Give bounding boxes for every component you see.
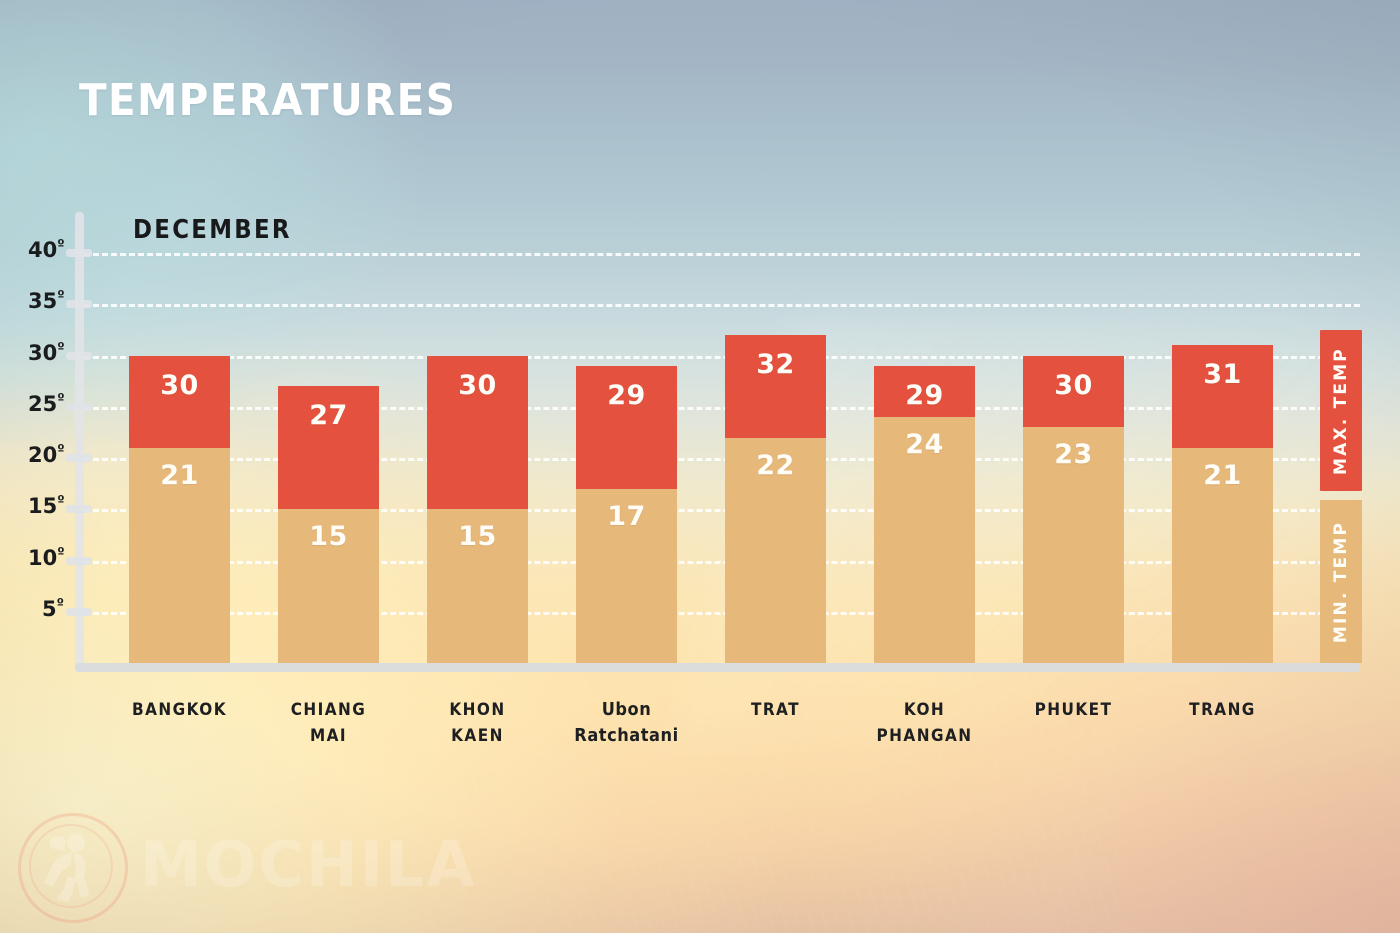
bar-value-min: 23 [1023, 439, 1124, 470]
bar-value-min: 22 [725, 450, 826, 481]
bar-value-min: 17 [576, 501, 677, 532]
bar-value-max: 30 [1023, 370, 1124, 401]
bar-value-min: 15 [427, 521, 528, 552]
y-axis-label-35: 35º [28, 289, 65, 313]
category-label: KHON KAEN [396, 697, 559, 749]
category-label: KOH PHANGAN [843, 697, 1006, 749]
bar-value-max: 30 [427, 370, 528, 401]
bar-group[interactable]: 3121 [1172, 345, 1273, 663]
bar-value-min: 15 [278, 521, 379, 552]
bar-segment-min-temp[interactable]: 22 [725, 438, 826, 664]
bar-segment-max-temp[interactable]: 31 [1172, 345, 1273, 448]
y-axis-label-30: 30º [28, 341, 65, 365]
category-label: TRANG [1141, 697, 1304, 723]
gridline-5 [84, 612, 1360, 615]
category-label: PHUKET [992, 697, 1155, 723]
gridline-15 [84, 509, 1360, 512]
bar-segment-min-temp[interactable]: 24 [874, 417, 975, 663]
bar-value-min: 24 [874, 429, 975, 460]
bar-segment-min-temp[interactable]: 21 [129, 448, 230, 663]
legend-label: MAX. TEMP [1331, 347, 1351, 475]
bar-chart-plot: 5º10º15º20º25º30º35º40º 3021271530152917… [0, 0, 1400, 933]
gridline-40 [84, 253, 1360, 256]
legend-label: MIN. TEMP [1331, 520, 1351, 642]
y-axis-label-5: 5º [42, 597, 64, 621]
y-tick-mark-30 [66, 352, 92, 360]
bar-value-max: 30 [129, 370, 230, 401]
category-label: CHIANG MAI [247, 697, 410, 749]
gridline-25 [84, 407, 1360, 410]
bar-value-max: 29 [576, 380, 677, 411]
y-tick-mark-25 [66, 403, 92, 411]
bar-group[interactable]: 2924 [874, 366, 975, 663]
bar-value-min: 21 [1172, 460, 1273, 491]
bar-segment-min-temp[interactable]: 17 [576, 489, 677, 663]
bar-segment-max-temp[interactable]: 29 [576, 366, 677, 489]
gridline-10 [84, 561, 1360, 564]
infographic-canvas: TEMPERATURES DECEMBER 5º10º15º20º25º30º3… [0, 0, 1400, 933]
bar-group[interactable]: 3021 [129, 356, 230, 664]
y-tick-mark-40 [66, 249, 92, 257]
bar-segment-max-temp[interactable]: 32 [725, 335, 826, 438]
bar-group[interactable]: 3023 [1023, 356, 1124, 664]
y-tick-mark-15 [66, 505, 92, 513]
category-label: Ubon Ratchatani [545, 697, 708, 749]
bar-segment-min-temp[interactable]: 15 [278, 509, 379, 663]
x-axis-line [75, 663, 1360, 672]
bar-segment-min-temp[interactable]: 15 [427, 509, 528, 663]
y-axis-label-20: 20º [28, 443, 65, 467]
bar-group[interactable]: 3222 [725, 335, 826, 663]
y-tick-mark-10 [66, 557, 92, 565]
category-label: TRAT [694, 697, 857, 723]
category-label: BANGKOK [98, 697, 261, 723]
y-axis-label-15: 15º [28, 494, 65, 518]
y-tick-mark-35 [66, 300, 92, 308]
y-axis-line [75, 212, 84, 672]
bar-group[interactable]: 2715 [278, 386, 379, 663]
bar-value-min: 21 [129, 460, 230, 491]
y-axis-label-25: 25º [28, 392, 65, 416]
bar-segment-min-temp[interactable]: 21 [1172, 448, 1273, 663]
y-axis-label-40: 40º [28, 238, 65, 262]
bar-value-max: 27 [278, 400, 379, 431]
gridline-30 [84, 356, 1360, 359]
y-tick-mark-5 [66, 608, 92, 616]
gridline-20 [84, 458, 1360, 461]
bar-group[interactable]: 3015 [427, 356, 528, 664]
bar-value-max: 31 [1172, 359, 1273, 390]
bar-value-max: 32 [725, 349, 826, 380]
bar-segment-max-temp[interactable]: 30 [427, 356, 528, 510]
bar-group[interactable]: 2917 [576, 366, 677, 663]
legend-item-max-temp[interactable]: MAX. TEMP [1320, 330, 1362, 491]
bar-segment-max-temp[interactable]: 29 [874, 366, 975, 417]
bar-segment-max-temp[interactable]: 27 [278, 386, 379, 509]
y-axis-label-10: 10º [28, 546, 65, 570]
bar-value-max: 29 [874, 380, 975, 411]
bar-segment-max-temp[interactable]: 30 [1023, 356, 1124, 428]
bar-segment-max-temp[interactable]: 30 [129, 356, 230, 448]
legend-item-min-temp[interactable]: MIN. TEMP [1320, 500, 1362, 663]
y-tick-mark-20 [66, 454, 92, 462]
gridline-35 [84, 304, 1360, 307]
bar-segment-min-temp[interactable]: 23 [1023, 427, 1124, 663]
